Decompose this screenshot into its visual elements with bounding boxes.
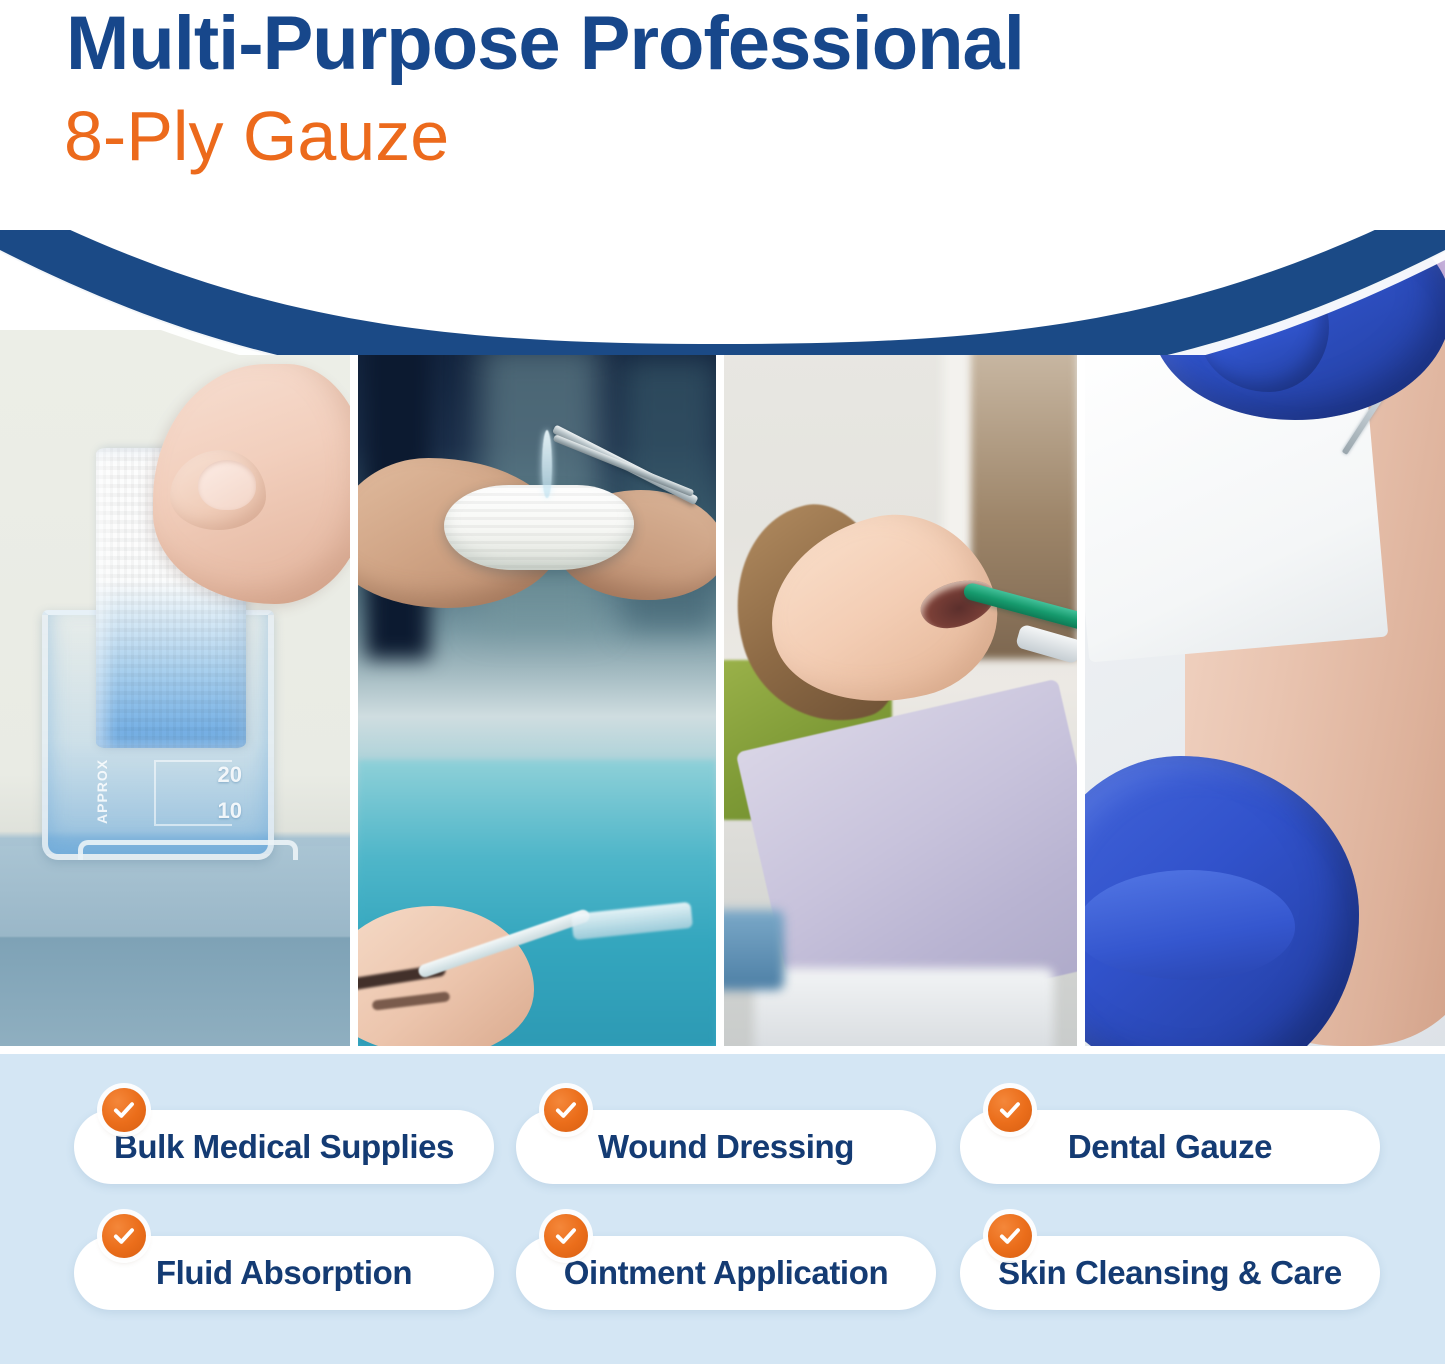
gauze-pad [444, 485, 634, 570]
gloved-fingers-upper [1199, 262, 1329, 392]
panel-image-inner [724, 330, 1077, 1046]
graduation-mark: 10 [146, 800, 242, 822]
page-subtitle: 8-Ply Gauze [64, 100, 449, 174]
panel-top-mask [724, 238, 1077, 330]
gallery-photo-injection-site-gauze [1085, 238, 1445, 1046]
panel-image-inner: APPROX 50 40 30 20 10 [0, 330, 350, 1046]
header-banner: Multi-Purpose Professional 8-Ply Gauze [0, 0, 1445, 230]
gallery-photo-gauze-absorption-beaker: APPROX 50 40 30 20 10 [0, 238, 350, 1046]
beaker-lip [78, 840, 298, 860]
gloved-fingers-lower [1085, 870, 1295, 980]
check-icon [102, 1214, 146, 1258]
panel-image-inner [358, 330, 716, 1046]
panel-image-inner [1085, 238, 1445, 1046]
feature-label: Ointment Application [564, 1254, 888, 1292]
panel-top-mask [358, 238, 716, 330]
instrument-tray [754, 968, 1054, 1046]
feature-label: Wound Dressing [598, 1128, 854, 1166]
feature-item-bulk-medical-supplies[interactable]: Bulk Medical Supplies [74, 1088, 494, 1164]
feature-label: Fluid Absorption [156, 1254, 412, 1292]
check-icon [544, 1214, 588, 1258]
check-icon [988, 1214, 1032, 1258]
page-title: Multi-Purpose Professional [66, 4, 1024, 84]
check-icon [988, 1088, 1032, 1132]
feature-item-fluid-absorption[interactable]: Fluid Absorption [74, 1214, 494, 1290]
feature-item-wound-dressing[interactable]: Wound Dressing [516, 1088, 936, 1164]
graduation-mark: 20 [146, 764, 242, 786]
feature-row: Fluid Absorption Ointment Application Sk… [0, 1214, 1445, 1334]
feature-list: Bulk Medical Supplies Wound Dressing Den… [0, 1054, 1445, 1364]
dental-instrument [724, 910, 784, 990]
gallery-photo-dental-gauze-patient [724, 238, 1077, 1046]
feature-label: Skin Cleansing & Care [998, 1254, 1342, 1292]
feature-label: Bulk Medical Supplies [114, 1128, 454, 1166]
feature-item-dental-gauze[interactable]: Dental Gauze [960, 1088, 1380, 1164]
lab-table-surface [0, 846, 350, 1046]
feature-item-ointment-application[interactable]: Ointment Application [516, 1214, 936, 1290]
image-gallery: APPROX 50 40 30 20 10 [0, 238, 1445, 1046]
liquid-drip [542, 430, 552, 498]
gallery-photo-surgical-gauze-forceps [358, 238, 716, 1046]
feature-item-skin-cleansing-care[interactable]: Skin Cleansing & Care [960, 1214, 1380, 1290]
feature-row: Bulk Medical Supplies Wound Dressing Den… [0, 1088, 1445, 1208]
beaker-approx-label: APPROX [94, 759, 110, 824]
feature-label: Dental Gauze [1068, 1128, 1272, 1166]
check-icon [544, 1088, 588, 1132]
thumbnail [198, 460, 256, 510]
check-icon [102, 1088, 146, 1132]
panel-top-mask [0, 238, 350, 330]
